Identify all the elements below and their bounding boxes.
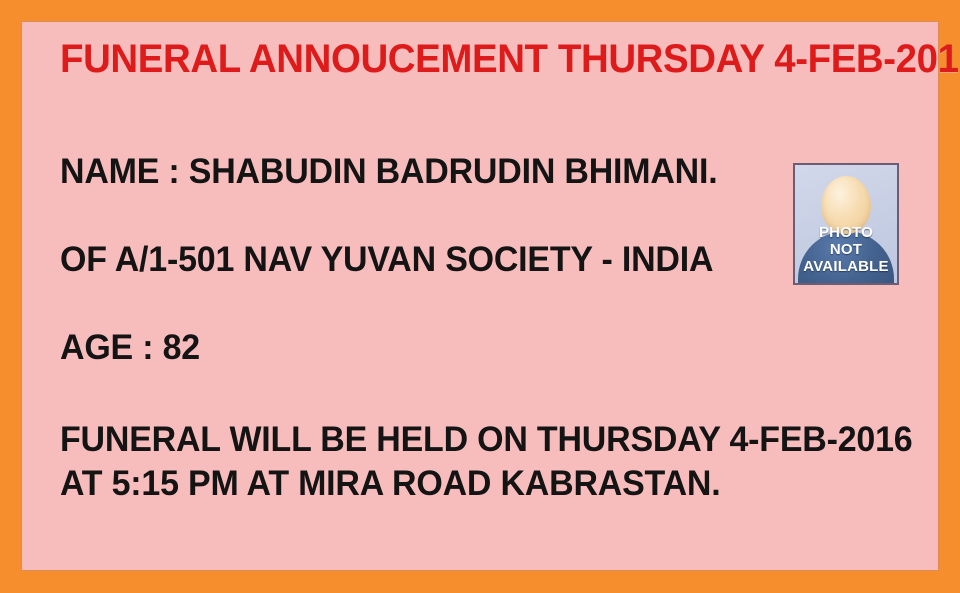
funeral-details-line-1: FUNERAL WILL BE HELD ON THURSDAY 4-FEB-2…	[60, 420, 768, 460]
announcement-card: FUNERAL ANNOUCEMENT THURSDAY 4-FEB-2016 …	[22, 22, 938, 570]
deceased-name-line: NAME : SHABUDIN BADRUDIN BHIMANI.	[60, 152, 768, 192]
photo-label-line-2: NOT	[795, 241, 897, 258]
funeral-details-line-2: AT 5:15 PM AT MIRA ROAD KABRASTAN.	[60, 464, 768, 504]
announcement-body: NAME : SHABUDIN BADRUDIN BHIMANI. OF A/1…	[60, 152, 790, 504]
page-title: FUNERAL ANNOUCEMENT THURSDAY 4-FEB-2016	[60, 34, 960, 84]
photo-not-available-label: PHOTO NOT AVAILABLE	[795, 224, 897, 275]
deceased-address-line: OF A/1-501 NAV YUVAN SOCIETY - INDIA	[60, 240, 768, 280]
deceased-age-line: AGE : 82	[60, 328, 768, 368]
photo-label-line-3: AVAILABLE	[795, 258, 897, 275]
photo-not-available-placeholder: PHOTO NOT AVAILABLE	[793, 163, 899, 285]
photo-label-line-1: PHOTO	[795, 224, 897, 241]
funeral-announcement-poster: FUNERAL ANNOUCEMENT THURSDAY 4-FEB-2016 …	[0, 0, 960, 593]
